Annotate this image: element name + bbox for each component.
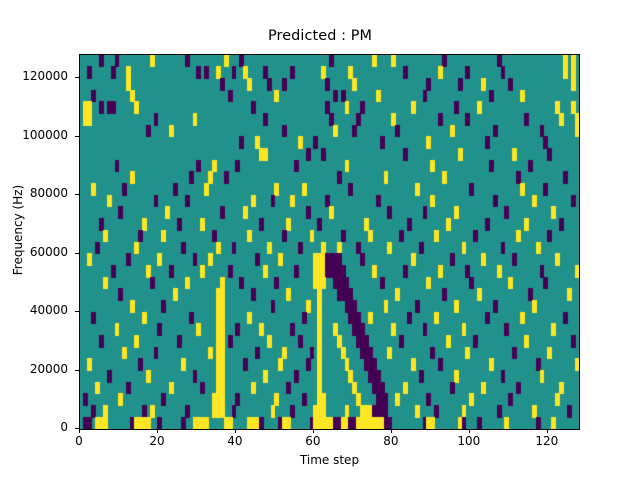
x-tick-label: 100 bbox=[439, 434, 499, 448]
y-tick-mark bbox=[75, 136, 79, 137]
y-tick-mark bbox=[75, 77, 79, 78]
x-tick-mark bbox=[469, 429, 470, 433]
y-tick-label: 20000 bbox=[0, 362, 68, 376]
x-tick-label: 120 bbox=[517, 434, 577, 448]
y-tick-label: 120000 bbox=[0, 69, 68, 83]
x-tick-label: 80 bbox=[361, 434, 421, 448]
x-tick-mark bbox=[547, 429, 548, 433]
x-axis-label: Time step bbox=[79, 453, 580, 467]
x-tick-label: 20 bbox=[127, 434, 187, 448]
y-tick-mark bbox=[75, 370, 79, 371]
page-title: Predicted : PM bbox=[0, 28, 640, 44]
y-tick-mark bbox=[75, 311, 79, 312]
x-tick-mark bbox=[157, 429, 158, 433]
y-axis-label: Frequency (Hz) bbox=[11, 120, 25, 340]
x-tick-mark bbox=[235, 429, 236, 433]
y-tick-mark bbox=[75, 194, 79, 195]
x-tick-label: 40 bbox=[205, 434, 265, 448]
x-tick-label: 0 bbox=[49, 434, 109, 448]
x-tick-mark bbox=[313, 429, 314, 433]
x-tick-mark bbox=[391, 429, 392, 433]
heatmap-image bbox=[80, 55, 579, 429]
y-tick-mark bbox=[75, 428, 79, 429]
matplotlib-figure: Predicted : PM 020406080100120 020000400… bbox=[0, 0, 640, 480]
y-tick-label: 0 bbox=[0, 420, 68, 434]
y-tick-mark bbox=[75, 253, 79, 254]
x-tick-mark bbox=[79, 429, 80, 433]
heatmap-plot-area bbox=[79, 54, 580, 430]
x-tick-label: 60 bbox=[283, 434, 343, 448]
